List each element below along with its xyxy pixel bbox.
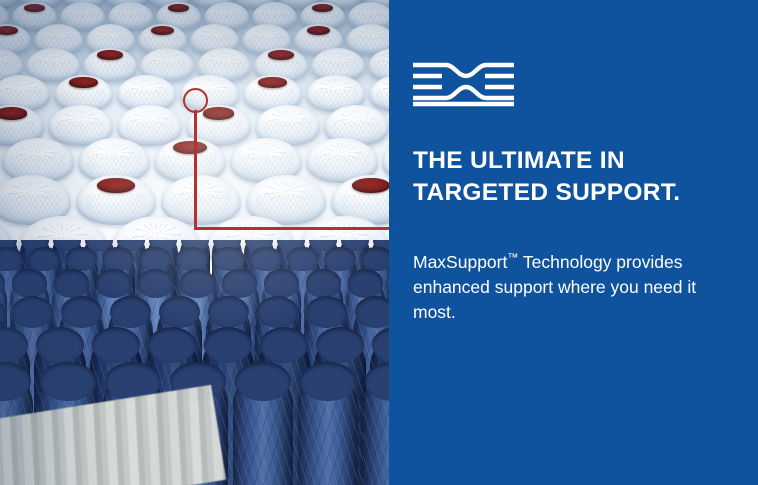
callout-vertical-leader-line <box>194 110 197 230</box>
page-title: THE ULTIMATE IN TARGETED SUPPORT. <box>413 145 743 208</box>
support-coil <box>233 374 293 485</box>
support-coil <box>298 374 358 485</box>
headline-line-2: TARGETED SUPPORT. <box>413 177 743 209</box>
headline-line-1: THE ULTIMATE IN <box>413 145 743 177</box>
trademark-symbol: ™ <box>507 252 518 264</box>
mattress-coil-photo <box>0 0 390 485</box>
product-name: MaxSupport <box>413 252 507 272</box>
banner-stage: THE ULTIMATE IN TARGETED SUPPORT. MaxSup… <box>0 0 758 485</box>
support-coil <box>363 374 390 485</box>
info-panel: THE ULTIMATE IN TARGETED SUPPORT. MaxSup… <box>389 0 758 485</box>
body-copy: MaxSupport™ Technology provides enhanced… <box>413 250 713 326</box>
wave-layers-logo-icon <box>413 59 514 107</box>
